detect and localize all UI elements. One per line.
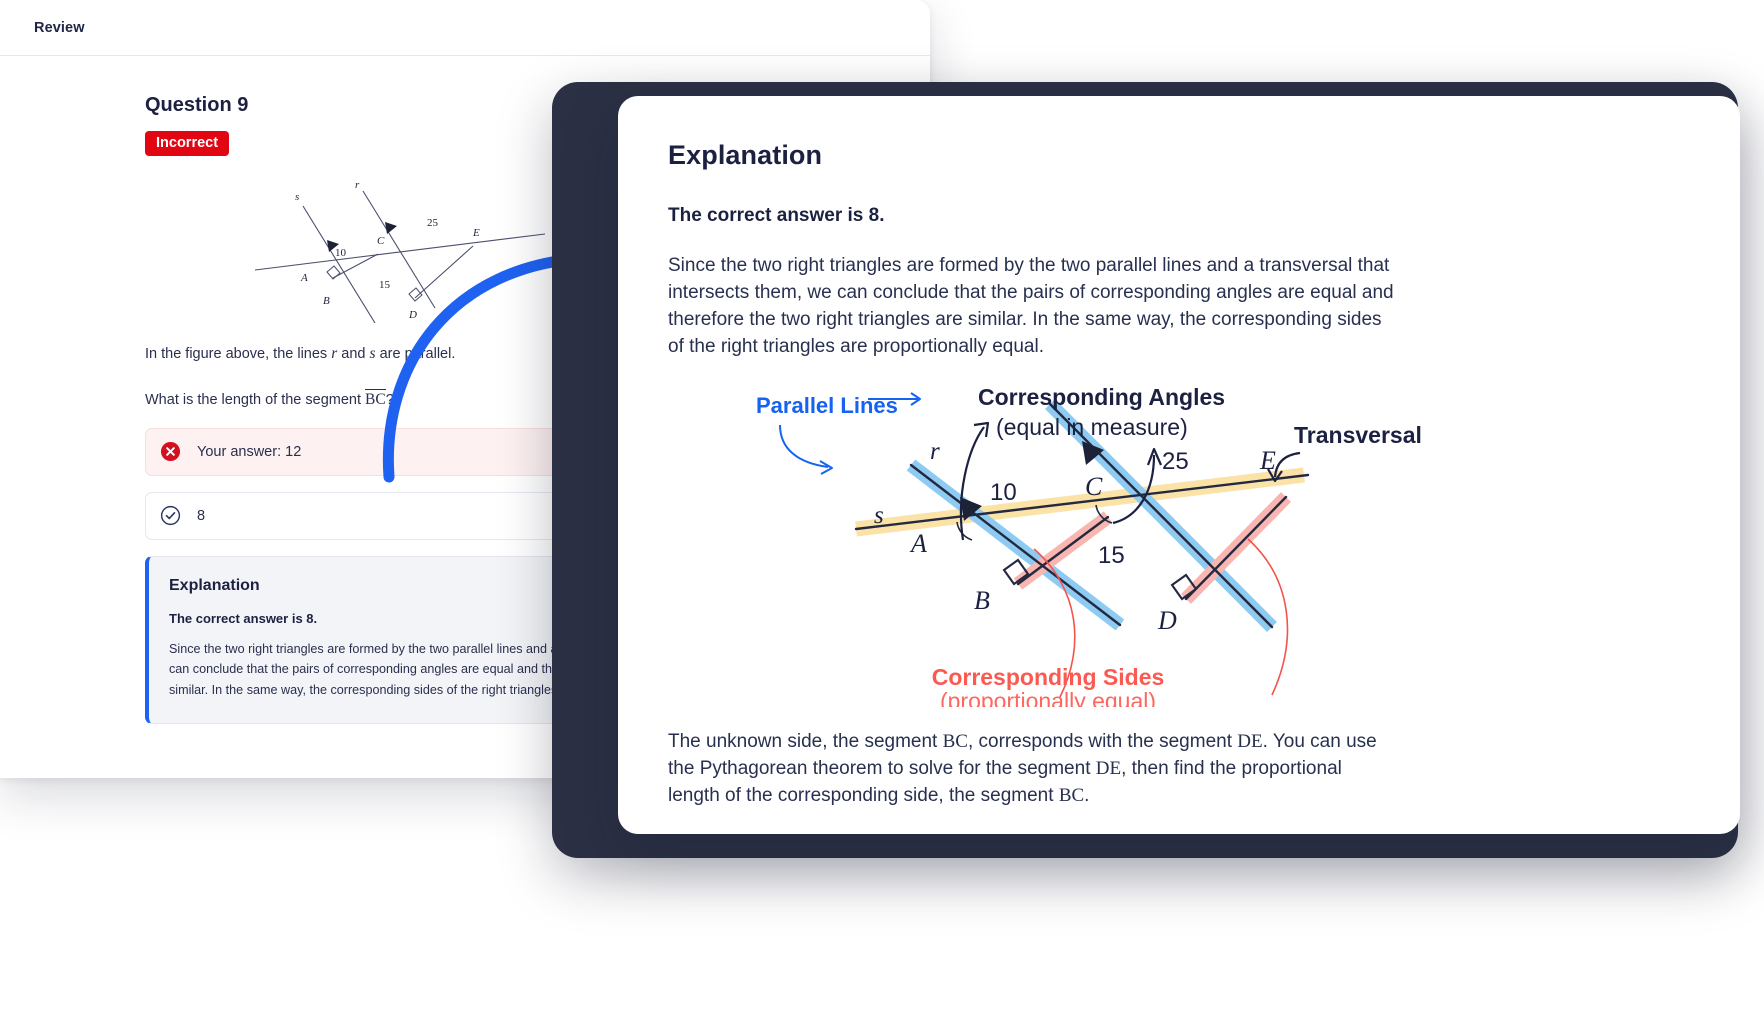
annotation-corresponding-angles: Corresponding Angles [978, 384, 1225, 410]
label-point-C: C [1085, 472, 1103, 501]
measure-ce: 25 [1162, 448, 1189, 475]
answer-row-user-label: Your answer: 12 [197, 444, 301, 460]
label-point-A: A [909, 529, 927, 558]
svg-text:B: B [323, 295, 330, 307]
svg-text:10: 10 [335, 247, 347, 259]
svg-text:E: E [472, 227, 480, 239]
bottom-seg-de-2: DE [1096, 758, 1121, 779]
explanation-paragraph-bottom: The unknown side, the segment BC, corres… [668, 729, 1398, 810]
explanation-bottom-wrap: The unknown side, the segment BC, corres… [668, 729, 1688, 810]
annotation-corresponding-sides: Corresponding Sides [932, 664, 1165, 690]
svg-text:r: r [355, 179, 360, 191]
annotation-parallel-lines: Parallel Lines [756, 393, 898, 418]
annotation-corresponding-sides-sub: (proportionally equal) [940, 688, 1156, 707]
svg-text:D: D [408, 309, 417, 321]
label-point-B: B [974, 586, 990, 615]
prompt-text-b: and [337, 346, 369, 362]
bottom-seg-de-1: DE [1237, 731, 1262, 752]
prompt-text-a: In the figure above, the lines [145, 346, 331, 362]
prompt2-text-b: ? [386, 392, 394, 408]
label-line-r: r [930, 438, 940, 465]
label-point-D: D [1157, 606, 1177, 635]
explanation-paragraph-top: Since the two right triangles are formed… [668, 253, 1398, 361]
prompt-text-c: are parallel. [376, 346, 456, 362]
question-figure-svg: s r A B C D E 10 25 15 [255, 178, 545, 323]
label-line-s: s [874, 502, 884, 529]
answer-row-correct-label: 8 [197, 508, 205, 524]
explanation-heading: Explanation [668, 140, 1688, 171]
svg-text:25: 25 [427, 217, 439, 229]
x-circle-icon [160, 441, 181, 462]
prompt2-segment-bc: BC [365, 389, 386, 408]
measure-ac: 10 [990, 479, 1017, 506]
bottom-text-5: . [1084, 785, 1089, 806]
annotation-transversal: Transversal [1294, 422, 1422, 448]
svg-text:15: 15 [379, 279, 391, 291]
review-titlebar: Review [0, 0, 930, 56]
explanation-diagram: A B C D E r s 10 25 15 Parallel Lines [668, 377, 1688, 707]
check-circle-icon [160, 505, 181, 526]
bottom-text-1: The unknown side, the segment [668, 731, 943, 752]
svg-text:C: C [377, 235, 385, 247]
status-badge: Incorrect [145, 131, 229, 156]
prompt2-text-a: What is the length of the segment [145, 392, 365, 408]
screenshot-stage: Review Question 9 Incorrect [0, 0, 1764, 1022]
bottom-seg-bc-1: BC [943, 731, 968, 752]
explanation-diagram-svg: A B C D E r s 10 25 15 Parallel Lines [668, 377, 1688, 707]
bottom-text-2: , corresponds with the segment [968, 731, 1237, 752]
explanation-card: Explanation The correct answer is 8. Sin… [618, 96, 1740, 834]
explanation-correct-answer: The correct answer is 8. [668, 205, 1688, 227]
bottom-seg-bc-2: BC [1059, 785, 1084, 806]
svg-text:A: A [300, 272, 308, 284]
measure-cd: 15 [1098, 542, 1125, 569]
label-point-E: E [1259, 446, 1276, 475]
annotation-corresponding-angles-sub: (equal in measure) [996, 414, 1188, 440]
review-title: Review [34, 20, 85, 36]
svg-text:s: s [295, 191, 299, 203]
